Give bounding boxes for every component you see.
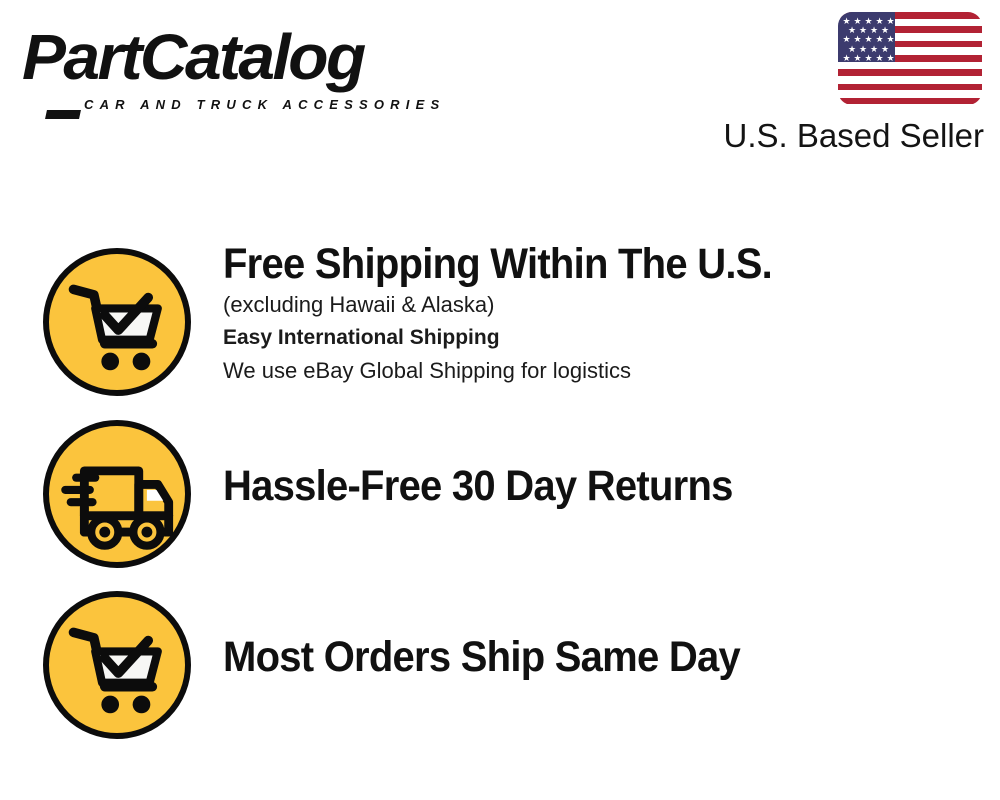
feature-subline: (excluding Hawaii & Alaska)	[223, 288, 983, 321]
flag-canton: ★★★★★★★★★★★★★★★★★★★★★★★	[838, 12, 895, 62]
feature-text-block: Most Orders Ship Same Day	[223, 633, 983, 681]
feature-icon-badge	[43, 591, 191, 739]
flag-stripe	[838, 69, 982, 76]
flag-stripe	[838, 98, 982, 105]
shopping-cart-check-icon	[49, 254, 185, 390]
delivery-truck-icon	[49, 426, 185, 562]
brand-wordmark: PartCatalog	[22, 24, 506, 90]
feature-text-block: Hassle-Free 30 Day Returns	[223, 462, 983, 510]
flag-star: ★	[887, 54, 895, 63]
brand-logo: PartCatalog CAR AND TRUCK ACCESSORIES	[22, 24, 492, 112]
promo-banner: PartCatalog CAR AND TRUCK ACCESSORIES ★★…	[0, 0, 1000, 800]
brand-logo-underline-accent	[45, 110, 81, 119]
brand-tagline: CAR AND TRUCK ACCESSORIES	[84, 98, 445, 112]
feature-icon-badge	[43, 248, 191, 396]
feature-subline: We use eBay Global Shipping for logistic…	[223, 354, 983, 387]
flag-star: ★	[876, 54, 884, 63]
feature-heading: Most Orders Ship Same Day	[223, 633, 930, 681]
flag-star: ★	[865, 54, 873, 63]
feature-icon-badge	[43, 420, 191, 568]
flag-stripe	[838, 84, 982, 91]
feature-subline-bold: Easy International Shipping	[223, 321, 983, 354]
flag-star: ★	[843, 54, 851, 63]
feature-heading: Free Shipping Within The U.S.	[223, 240, 930, 288]
flag-stripe	[838, 76, 982, 83]
flag-stripe	[838, 91, 982, 98]
feature-text-block: Free Shipping Within The U.S. (excluding…	[223, 240, 983, 387]
us-flag-icon: ★★★★★★★★★★★★★★★★★★★★★★★	[838, 12, 982, 105]
flag-stripe	[838, 62, 982, 69]
feature-heading: Hassle-Free 30 Day Returns	[223, 462, 930, 510]
flag-star: ★	[854, 54, 862, 63]
us-based-seller-label: U.S. Based Seller	[722, 116, 984, 156]
shopping-cart-check-icon	[49, 597, 185, 733]
